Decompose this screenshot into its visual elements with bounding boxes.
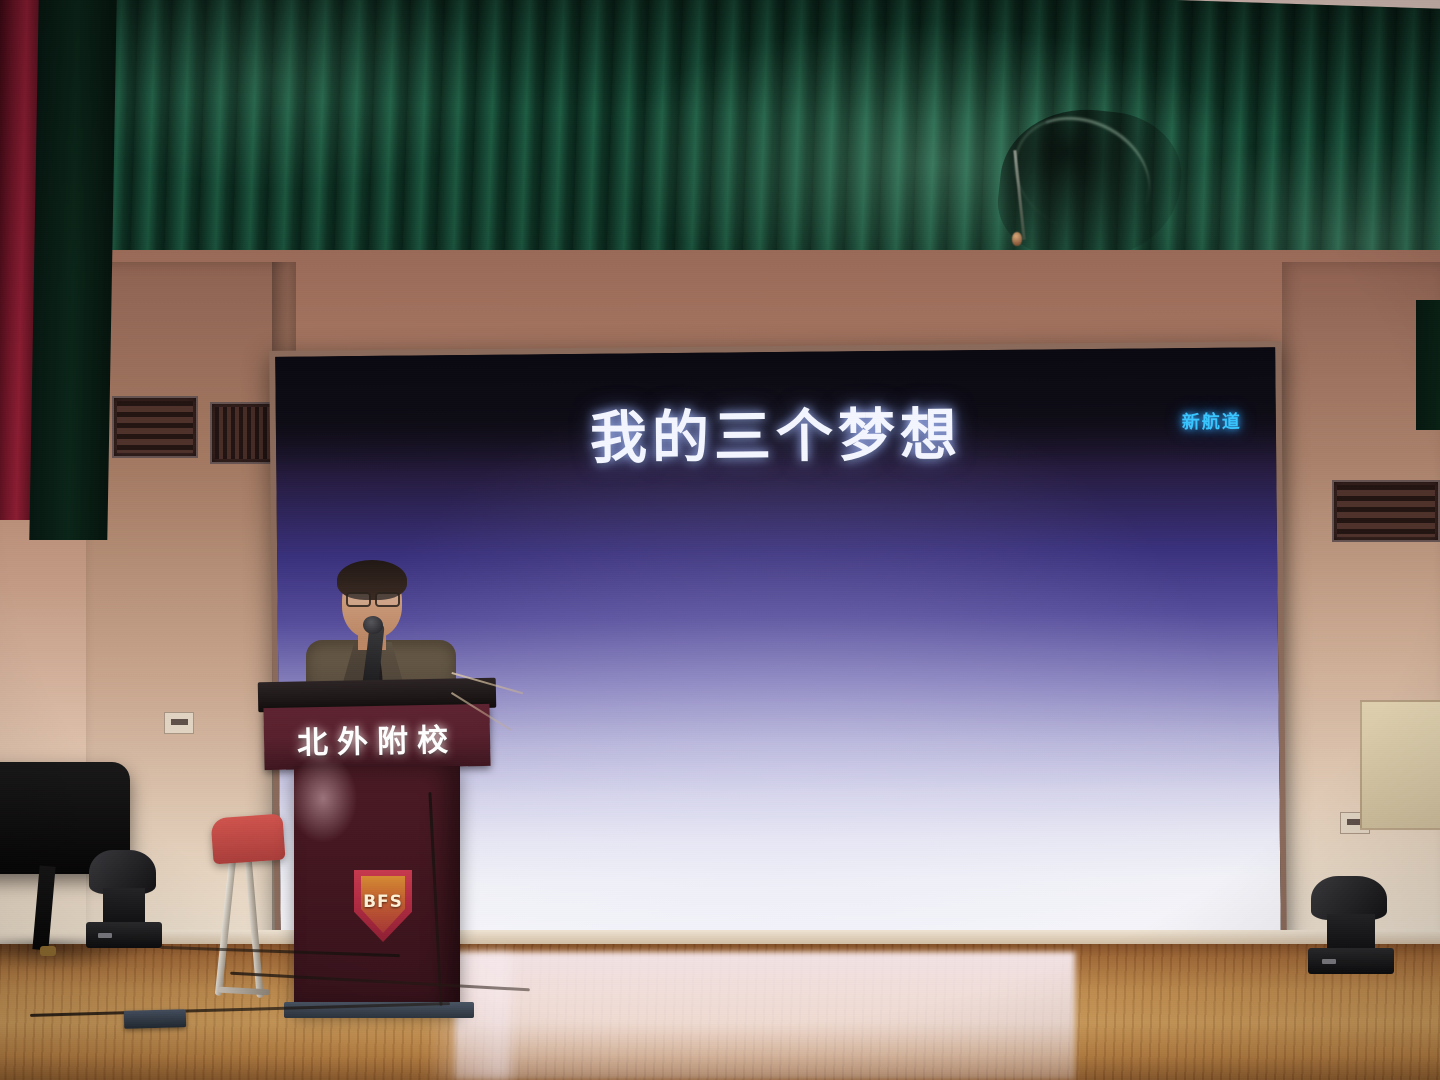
vent-grille-icon — [112, 396, 198, 458]
light-yoke — [1327, 914, 1375, 952]
light-base — [1308, 948, 1394, 974]
wall-plate — [164, 712, 194, 734]
side-curtain-green-right — [1416, 300, 1440, 430]
stage-light-right — [1308, 872, 1394, 974]
stage-light-left — [86, 852, 162, 948]
side-curtain-green-left — [29, 0, 116, 540]
emblem-glow — [284, 757, 362, 849]
vent-louvers — [1337, 485, 1435, 537]
slide-title: 我的三个梦想 — [276, 403, 1277, 472]
light-led-icon — [1322, 959, 1336, 964]
vent-grille-icon — [1332, 480, 1440, 542]
light-led-icon — [98, 933, 112, 938]
school-emblem: BFS — [354, 870, 412, 942]
floor-reflection — [455, 952, 1075, 1080]
piano-foot — [40, 946, 56, 956]
floor-cable-box — [124, 1009, 186, 1029]
wall-panel — [1360, 700, 1440, 830]
light-yoke — [103, 888, 146, 926]
auditorium-scene: 我的三个梦想 新航道 — [0, 0, 1440, 1080]
podium-label: 北外附校 — [264, 714, 491, 763]
slide-watermark: 新航道 — [1182, 408, 1242, 435]
podium-nameplate: 北外附校 — [263, 704, 490, 770]
light-base — [86, 922, 162, 948]
curtain-cord-tassel — [1012, 232, 1022, 246]
glasses-icon — [346, 592, 400, 604]
emblem-text: BFS — [354, 892, 412, 912]
vent-louvers — [215, 407, 277, 459]
vent-louvers — [117, 401, 193, 453]
